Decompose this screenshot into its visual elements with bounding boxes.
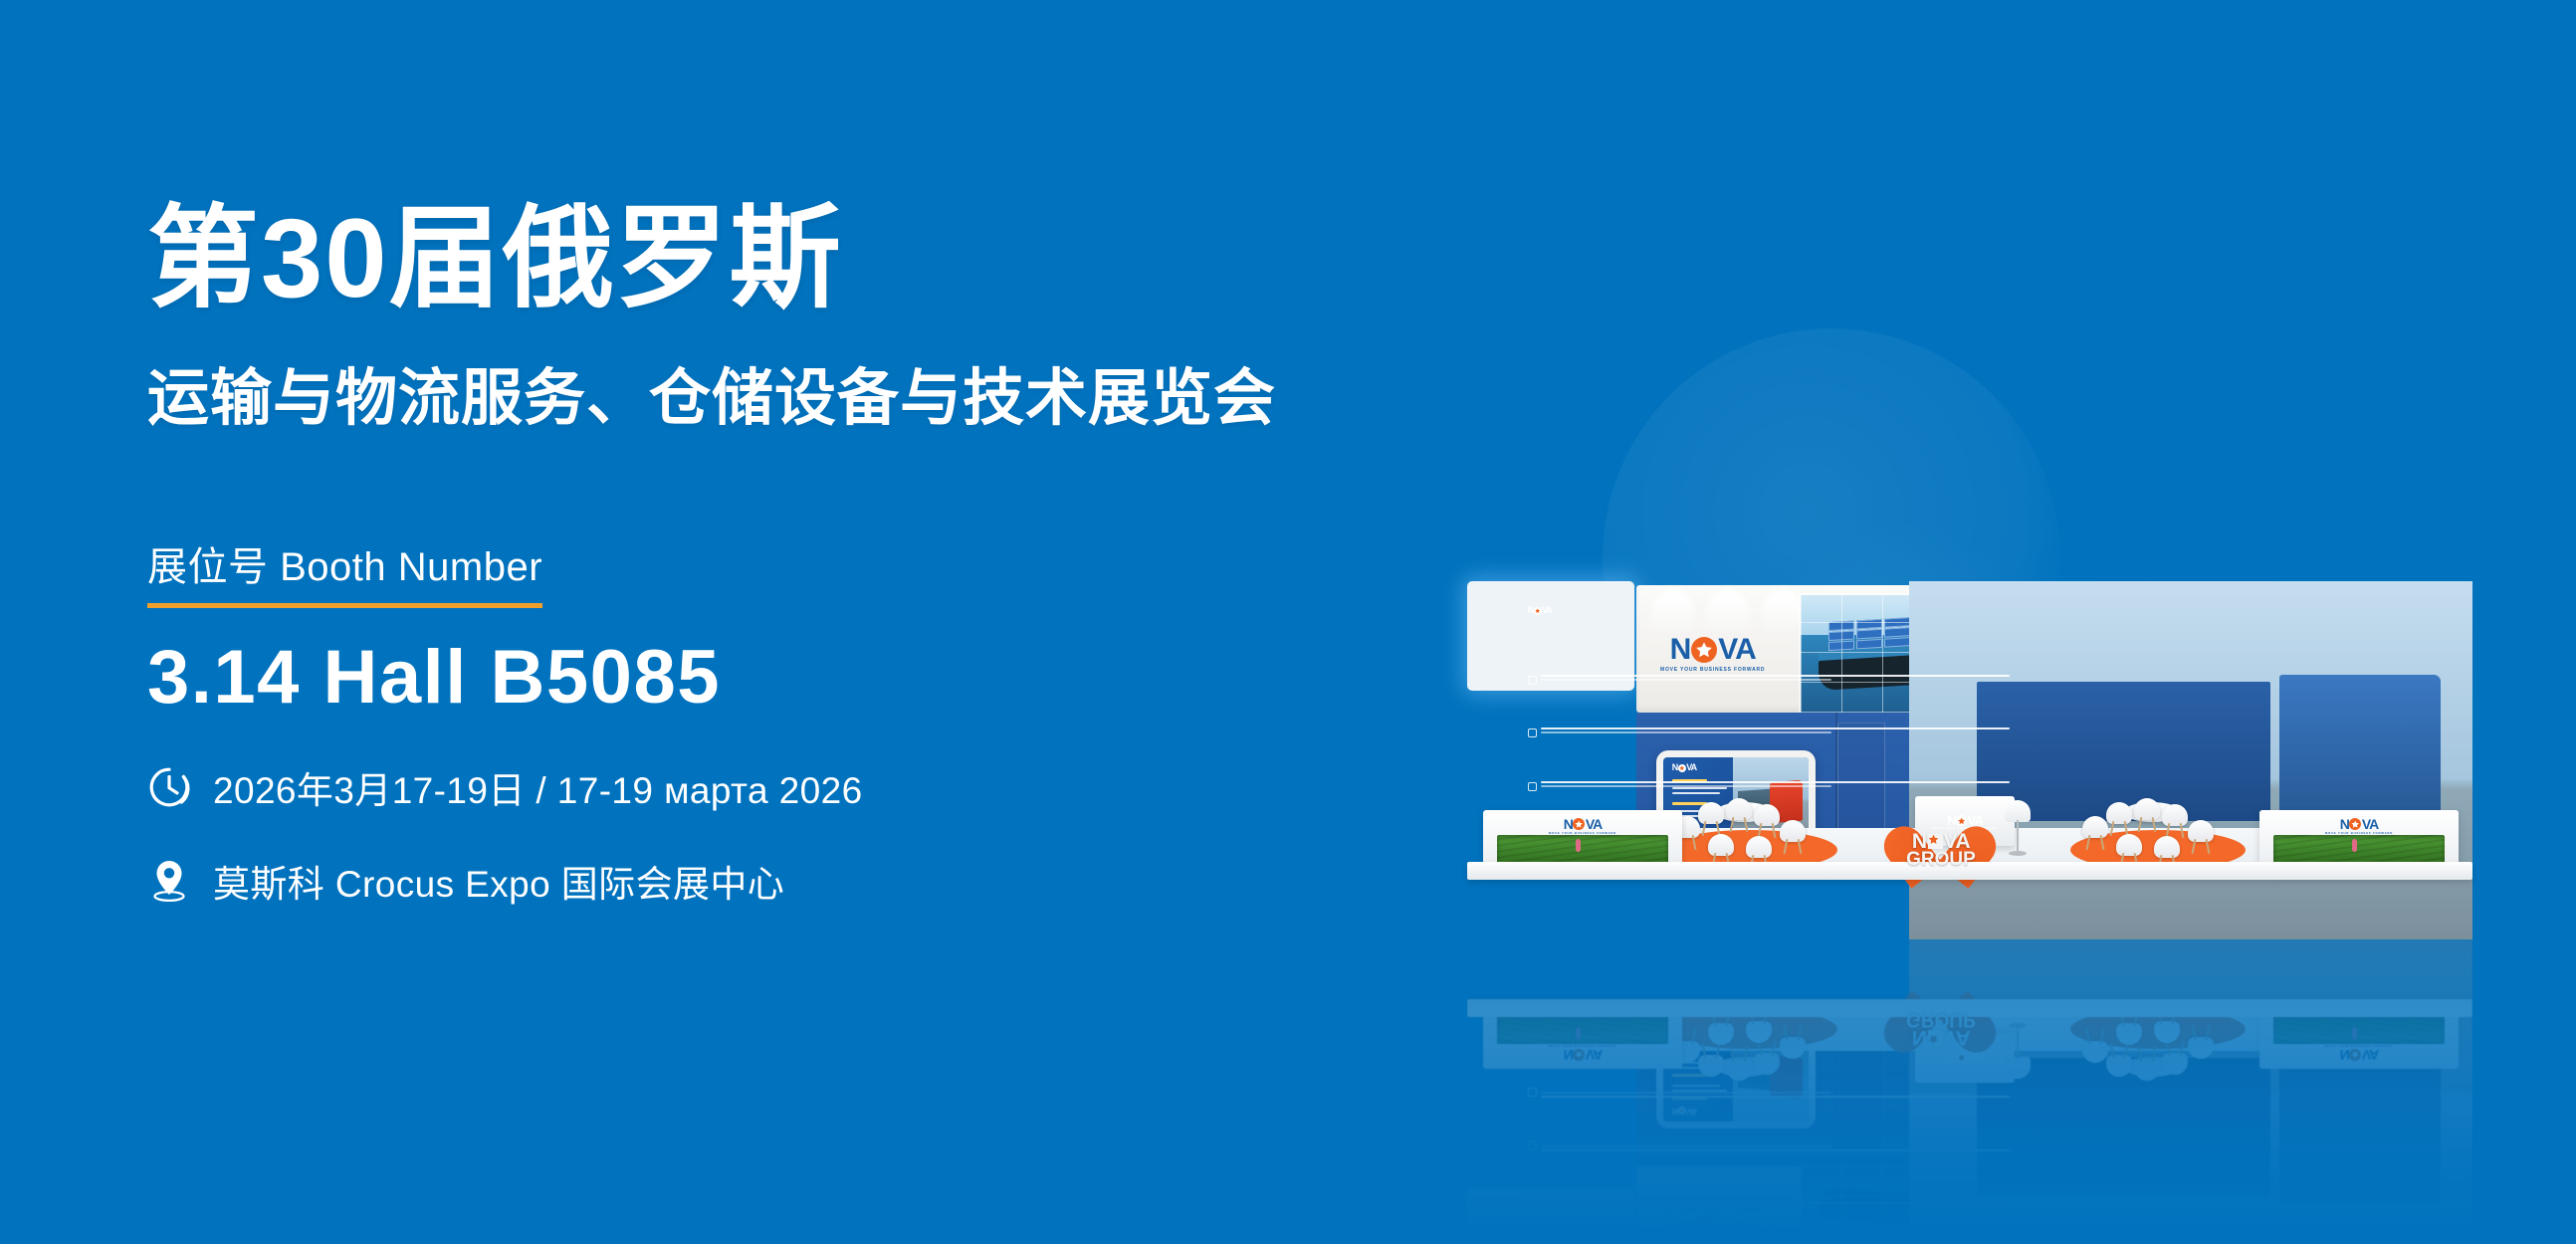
nova-logo-star-circle	[2349, 818, 2361, 830]
nova-logo-header: N VA MOVE YOUR BUSINESS FORWARD	[1660, 635, 1765, 673]
page-subtitle: 运输与物流服务、仓储设备与技术展览会	[147, 359, 1392, 440]
chair	[1674, 1029, 1700, 1063]
date-row: 2026年3月17-19日 / 17-19 марта 2026	[147, 760, 1392, 814]
chair	[1708, 1011, 1734, 1045]
chair	[2162, 804, 2188, 838]
chair	[1780, 1025, 1806, 1059]
nova-logo-n: N	[1670, 635, 1691, 665]
planter-box-right	[2273, 835, 2445, 865]
nova-logo-header: N VA MOVE YOUR BUSINESS FORWARD	[1660, 1206, 1765, 1238]
nova-logo-n: N	[1564, 1048, 1573, 1062]
booth-header-band	[1636, 1166, 2254, 1238]
nova-tagline: MOVE YOUR BUSINESS FORWARD	[1549, 1044, 1616, 1047]
nova-logo-n: N	[2340, 817, 2349, 831]
star-icon	[1928, 834, 1939, 845]
chair	[2154, 1009, 2180, 1043]
star-icon	[2351, 820, 2360, 829]
nova-group-star-circle	[1928, 834, 1943, 849]
nova-logo-rail-board: N VA	[1672, 1107, 1696, 1116]
nova-tagline: MOVE YOUR BUSINESS FORWARD	[1933, 1048, 1998, 1051]
nova-logo-va: VA	[1586, 817, 1602, 831]
chair	[2188, 1025, 2214, 1059]
locomotive-photo	[1733, 1036, 1809, 1122]
nova-group-word: GROUP	[1891, 851, 1991, 868]
star-icon	[2351, 1051, 2360, 1060]
chair	[1754, 804, 1780, 838]
nova-group-n: N	[1912, 1028, 1927, 1047]
nova-logo-va: VA	[1718, 635, 1755, 665]
seating-group-left	[1668, 794, 1827, 870]
chair	[1780, 820, 1806, 854]
seating-group-right	[2076, 1009, 2236, 1085]
clock-icon	[147, 765, 191, 809]
nova-tagline: MOVE YOUR BUSINESS FORWARD	[1660, 668, 1765, 673]
booth-back-wall	[1636, 1009, 2254, 1166]
nova-logo-n: N	[1936, 1076, 1947, 1092]
nova-logo-va: VA	[2190, 1218, 2233, 1238]
chair	[2082, 816, 2108, 850]
nova-tagline: MOVE YOUR BUSINESS FORWARD	[2325, 1044, 2393, 1047]
star-icon	[1958, 1055, 1966, 1063]
star-icon	[1679, 1109, 1685, 1115]
nova-tagline: MOVE YOUR BUSINESS FORWARD	[1660, 1206, 1765, 1211]
chair	[1754, 1041, 1780, 1075]
chair	[2106, 802, 2132, 836]
nova-logo-n: N	[1670, 1214, 1691, 1238]
nova-logo-star-circle	[2160, 1220, 2189, 1238]
page-title: 第30届俄罗斯	[147, 195, 1392, 323]
booth-number-value: 3.14 Hall B5085	[147, 634, 1392, 721]
chair	[2188, 820, 2214, 854]
nova-logo-va: VA	[1686, 1107, 1696, 1116]
star-icon	[1535, 608, 1541, 614]
road-board-bullets	[1528, 991, 2011, 1205]
date-text: 2026年3月17-19日 / 17-19 марта 2026	[213, 760, 863, 814]
orange-rug-right	[2070, 1009, 2246, 1049]
nova-logo-n: N	[2135, 1218, 2159, 1238]
chair	[1726, 798, 1752, 832]
orange-rug-left	[1662, 1009, 1837, 1049]
rail-board-text	[1672, 1059, 1733, 1100]
location-row: 莫斯科 Crocus Expo 国际会展中心	[147, 854, 1392, 908]
nova-logo-grass-wall: N VA MOVE YOUR BUSINESS FORWARD	[1922, 1071, 1994, 1092]
nova-logo-n: N	[1672, 1107, 1678, 1116]
star-icon	[1928, 1034, 1939, 1045]
nova-logo-va: VA	[1586, 1048, 1602, 1062]
nova-tagline: MOVE YOUR BUSINESS FORWARD	[2127, 1208, 2241, 1214]
nova-logo-orange-panel: N VA MOVE YOUR BUSINESS FORWARD	[2127, 1208, 2241, 1238]
green-grass-logo-wall: N VA MOVE YOUR BUSINESS FORWARD	[1917, 1025, 1999, 1164]
nova-logo-star-circle	[1691, 1216, 1717, 1238]
nova-logo-counter-right: N VA MOVE YOUR BUSINESS FORWARD	[2325, 1044, 2393, 1062]
planter-box-left	[1497, 835, 1668, 865]
bar-stool	[2005, 1019, 2031, 1079]
chair	[1698, 1043, 1724, 1077]
nova-logo-n: N	[1564, 817, 1573, 831]
nova-logo-star-circle	[1678, 1107, 1686, 1115]
chair	[2116, 1011, 2142, 1045]
chair	[2106, 1043, 2132, 1077]
booth-spotlights	[1651, 589, 1821, 639]
planter-box-right	[2273, 1014, 2445, 1044]
booth-glass-door	[2042, 1009, 2076, 1160]
star-icon	[1695, 1220, 1713, 1238]
nova-logo-star-circle	[1947, 1077, 1961, 1091]
nova-orange-logo-panel: N VA MOVE YOUR BUSINESS FORWARD	[2094, 1164, 2273, 1238]
nova-logo-n: N	[1528, 606, 1534, 615]
chair	[2134, 1047, 2160, 1081]
nova-logo-va: VA	[2362, 817, 2378, 831]
nova-group-va: VA	[1944, 1028, 1971, 1047]
ship-containers	[1828, 1221, 2028, 1238]
reception-counter-left: N VA MOVE YOUR BUSINESS FORWARD	[1483, 1007, 1682, 1069]
nova-logo-va: VA	[1542, 606, 1552, 615]
chair	[1698, 802, 1724, 836]
chair	[2134, 798, 2160, 832]
seating-group-right	[2076, 794, 2236, 870]
nova-logo-star-circle	[1573, 1049, 1585, 1061]
rail-freight-info-board: N VA	[1656, 1029, 1816, 1129]
location-text: 莫斯科 Crocus Expo 国际会展中心	[213, 854, 784, 908]
nova-logo-star-circle	[2349, 1049, 2361, 1061]
booth-floor	[1495, 1013, 2446, 1051]
nova-group-word: GROUP	[1891, 1010, 1991, 1027]
booth-info: 展位号 Booth Number 3.14 Hall B5085	[147, 534, 1392, 721]
nova-logo-counter-right: N VA MOVE YOUR BUSINESS FORWARD	[2325, 817, 2393, 835]
nova-logo-star-circle	[1691, 637, 1717, 663]
nova-logo-bar: N VA MOVE YOUR BUSINESS FORWARD	[1933, 1048, 1998, 1065]
chair	[1726, 1047, 1752, 1081]
star-icon	[2164, 1225, 2184, 1238]
bar-stool	[2005, 800, 2031, 860]
booth-platform	[1467, 999, 2472, 1017]
chair	[2162, 1041, 2188, 1075]
road-freight-info-board: N VA	[1467, 1188, 1634, 1238]
nova-logo-va: VA	[2362, 1048, 2378, 1062]
nova-logo-star-circle	[1956, 1053, 1967, 1064]
seating-group-left	[1668, 1009, 1827, 1085]
chair	[2082, 1029, 2108, 1063]
nova-logo-star-circle	[1534, 607, 1542, 615]
nova-logo-va: VA	[1718, 1214, 1755, 1238]
road-freight-info-board: N VA	[1467, 581, 1634, 691]
truck-photo	[1909, 939, 2472, 1238]
nova-logo-star-circle	[1573, 818, 1585, 830]
nova-logo-counter-left: N VA MOVE YOUR BUSINESS FORWARD	[1549, 817, 1616, 835]
nova-tagline: MOVE YOUR BUSINESS FORWARD	[1922, 1071, 1994, 1074]
bar-counter: N VA MOVE YOUR BUSINESS FORWARD	[1915, 1033, 2015, 1083]
nova-logo-counter-left: N VA MOVE YOUR BUSINESS FORWARD	[1549, 1044, 1616, 1062]
exhibition-booth-render: N VA MOVE YOUR BUSINESS FORWARD	[1467, 581, 2472, 939]
reception-counter-right: N VA MOVE YOUR BUSINESS FORWARD	[2259, 1007, 2459, 1069]
chair	[1746, 1009, 1772, 1043]
nova-logo-n: N	[1947, 1052, 1955, 1065]
container-ship-video-wall	[1801, 1166, 2084, 1238]
booth-inner-door	[1837, 1009, 1885, 1156]
star-icon	[1575, 820, 1584, 829]
nova-group-heart-sculpture: N VA GROUP	[1889, 806, 1993, 878]
nova-group-star-circle	[1928, 1030, 1943, 1045]
location-pin-icon	[147, 859, 191, 903]
booth-number-label: 展位号 Booth Number	[147, 534, 542, 608]
nova-logo-road-board: N VA	[1528, 606, 1552, 615]
star-icon	[1575, 1051, 1584, 1060]
nova-logo-va: VA	[1961, 1076, 1980, 1092]
booth-reflection: N VA MOVE YOUR BUSINESS FORWARD	[1467, 939, 2472, 1238]
nova-group-heart-sculpture: N VA GROUP	[1889, 1001, 1993, 1073]
star-icon	[1949, 1079, 1959, 1089]
nova-logo-va: VA	[1968, 1052, 1983, 1065]
nova-logo-n: N	[2340, 1048, 2349, 1062]
star-icon	[1695, 641, 1713, 659]
planter-box-left	[1497, 1014, 1668, 1044]
headline-block: 第30届俄罗斯 运输与物流服务、仓储设备与技术展览会 展位号 Booth Num…	[147, 195, 1392, 908]
